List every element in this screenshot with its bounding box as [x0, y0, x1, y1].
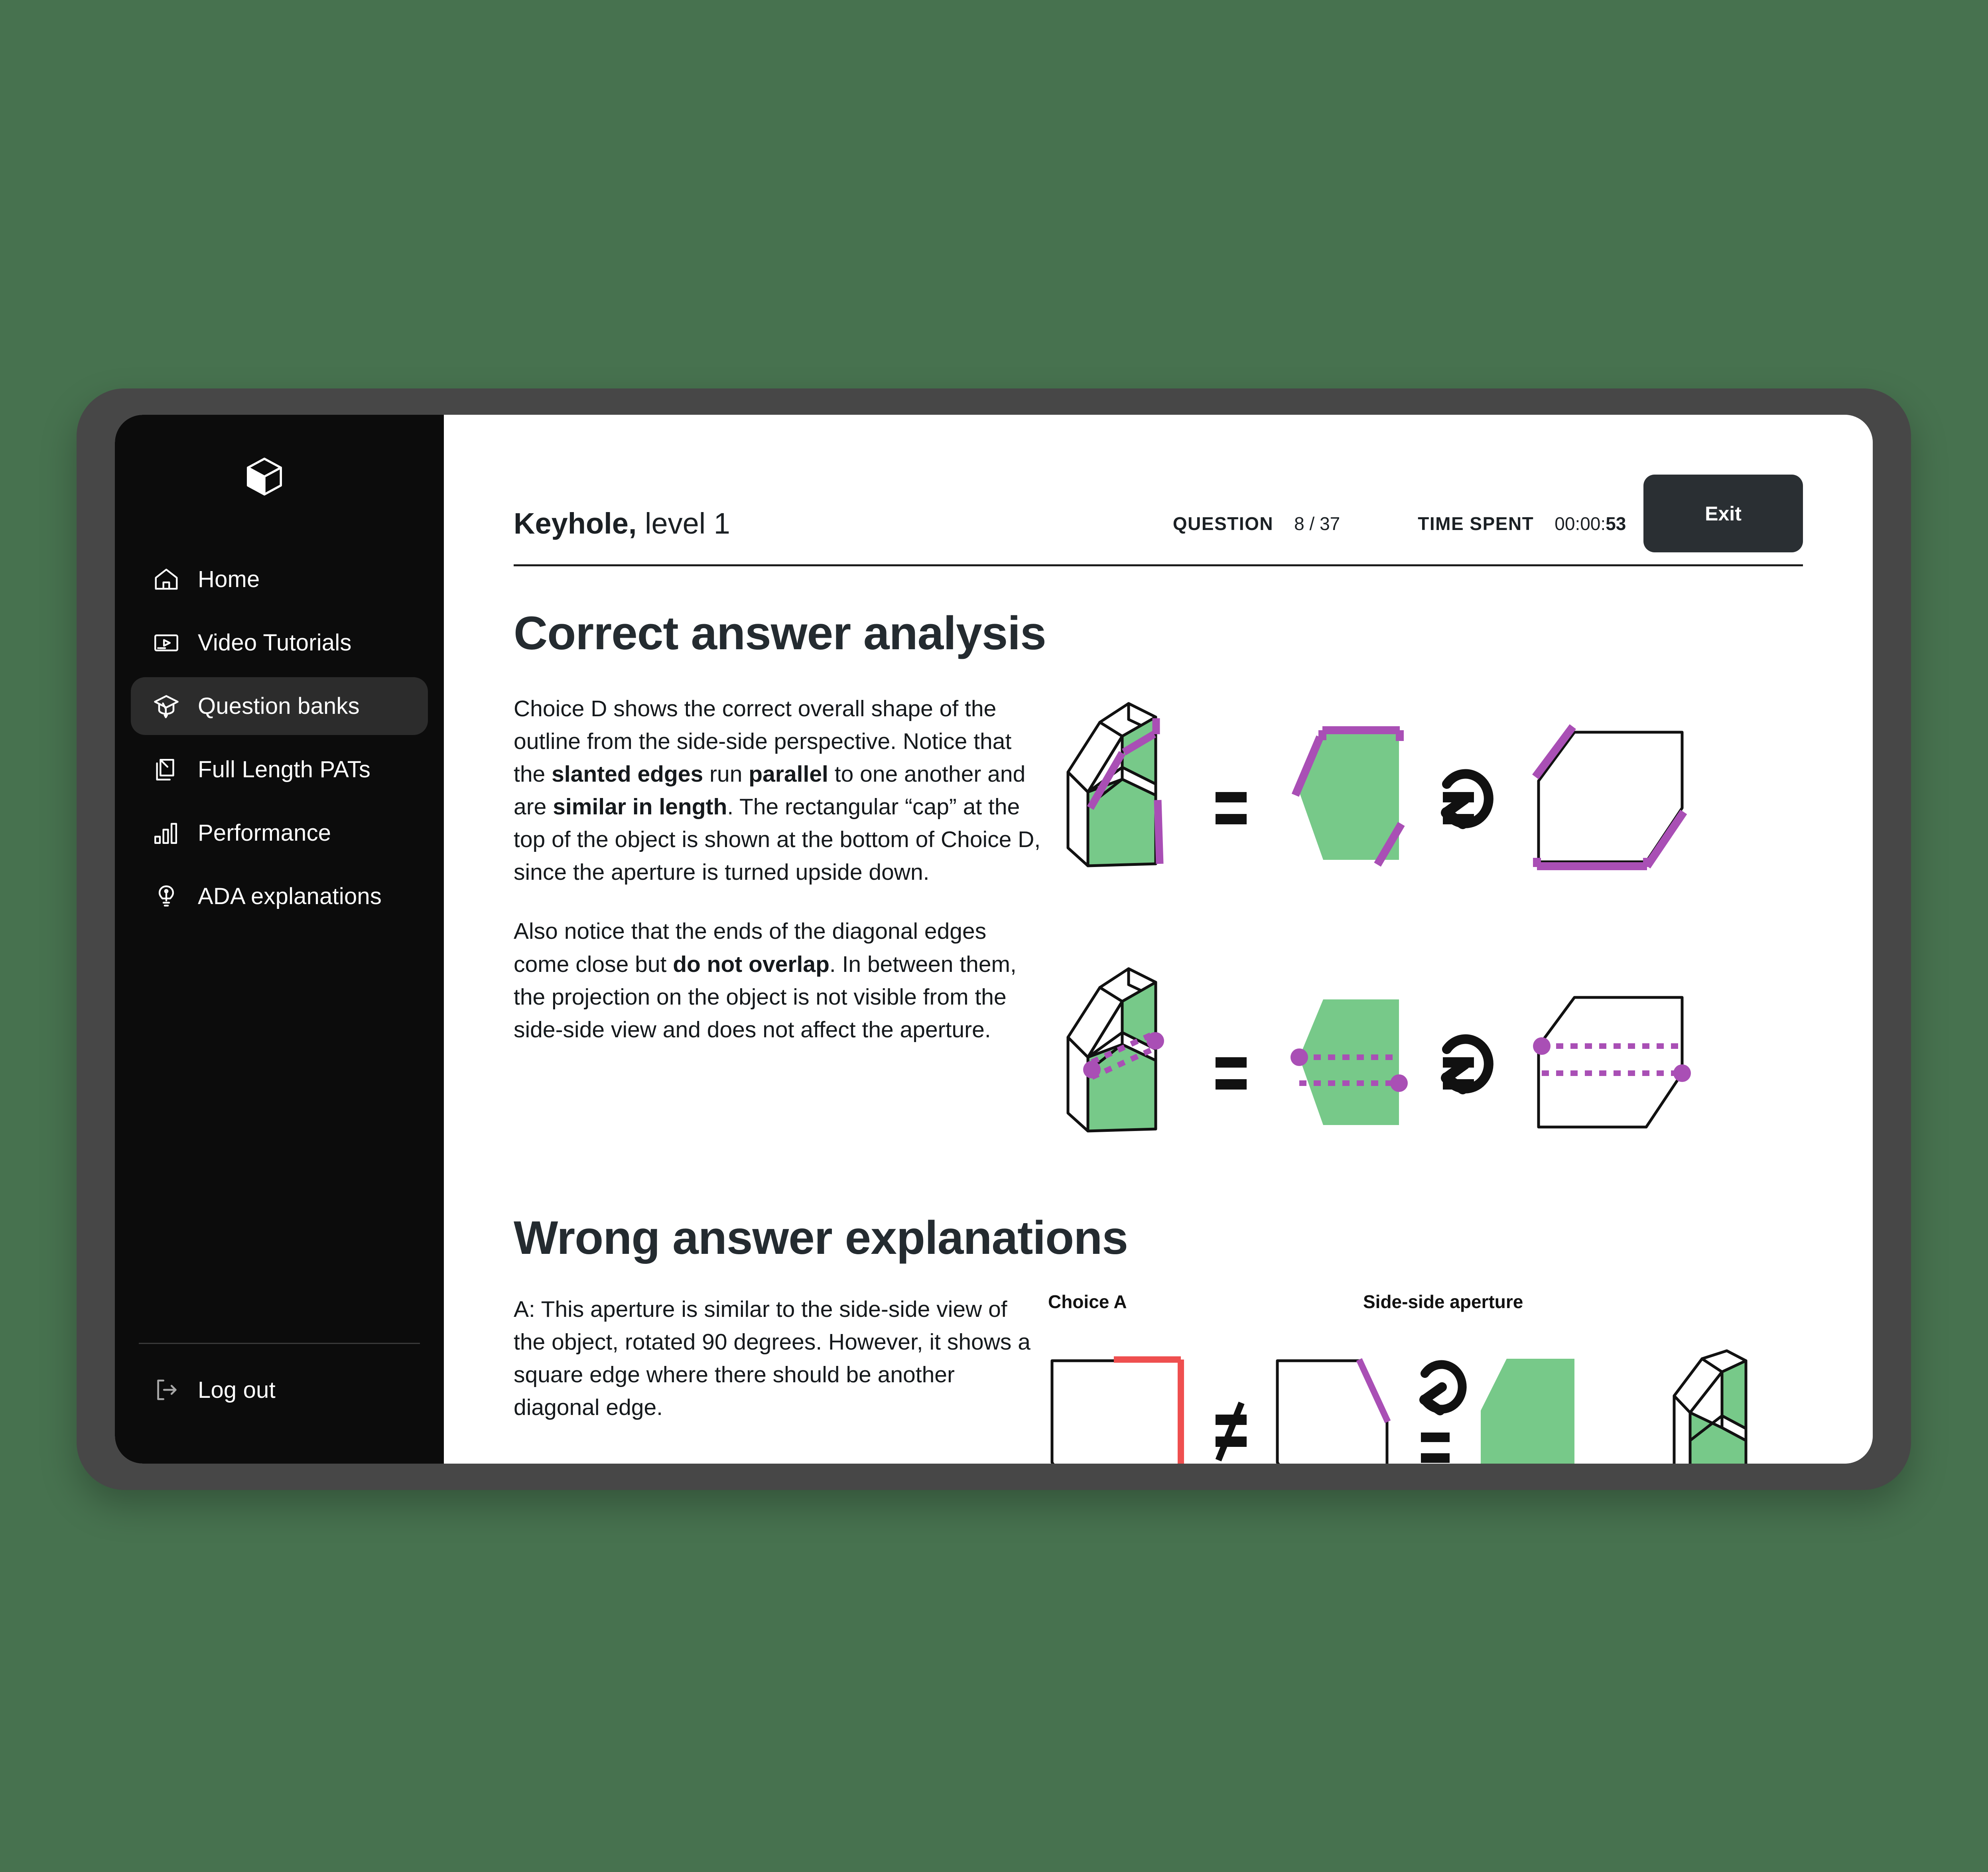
analysis-text-column-2: A: This aperture is similar to the side-… — [514, 1293, 1044, 1424]
sidebar-item-label: Question banks — [198, 693, 360, 719]
analysis-figure-column-1 — [1044, 692, 1822, 1145]
main-content: Keyhole, level 1 QUESTION 8 / 37 TIME SP… — [444, 415, 1873, 1464]
endpoint-dot — [1390, 1074, 1408, 1092]
p2-bold1: do not overlap — [673, 952, 829, 977]
endpoint-dot — [1673, 1064, 1691, 1082]
equals-sign — [1216, 1057, 1247, 1090]
paragraph-2: Also notice that the ends of the diagona… — [514, 915, 1044, 1046]
time-prefix: 00:00: — [1555, 513, 1606, 534]
time-spent-value: 00:00:53 — [1555, 513, 1626, 534]
not-equals-sign — [1216, 1402, 1247, 1462]
sidebar-item-question-banks[interactable]: Question banks — [131, 677, 428, 735]
lightbulb-icon — [151, 881, 182, 912]
sidebar-item-label: Performance — [198, 820, 331, 846]
p1-part2: run — [703, 761, 749, 787]
page-root: Home Video Tutorials — [0, 0, 1988, 1872]
sidebar-item-home[interactable]: Home — [131, 550, 428, 608]
page-title: Keyhole, level 1 — [514, 506, 730, 540]
figure-row-1 — [1044, 692, 1822, 880]
analysis-row-1: Choice D shows the correct overall shape… — [514, 692, 1803, 1145]
sidebar-nav: Home Video Tutorials — [115, 550, 444, 931]
page-title-bold: Keyhole, — [514, 507, 636, 540]
sidebar-item-performance[interactable]: Performance — [131, 804, 428, 862]
equals-sign — [1216, 792, 1247, 824]
choice-a-label: Choice A — [1048, 1291, 1127, 1312]
endpoint-dot — [1291, 1048, 1308, 1066]
sidebar-item-label: Video Tutorials — [198, 629, 352, 656]
time-spent-label: TIME SPENT — [1418, 513, 1534, 534]
page-title-light: level 1 — [636, 507, 730, 540]
analysis-row-2: A: This aperture is similar to the side-… — [514, 1293, 1803, 1464]
logout-label: Log out — [198, 1377, 276, 1403]
p1-bold1: slanted edges — [552, 761, 703, 787]
sidebar: Home Video Tutorials — [115, 415, 444, 1464]
endpoint-dot — [1147, 1032, 1164, 1050]
exit-button[interactable]: Exit — [1643, 475, 1803, 552]
sidebar-divider — [139, 1343, 420, 1344]
correct-answer-analysis-heading: Correct answer analysis — [514, 606, 1803, 660]
logout-button[interactable]: Log out — [131, 1364, 276, 1416]
sidebar-item-video-tutorials[interactable]: Video Tutorials — [131, 614, 428, 672]
figure-row-3 — [1044, 1349, 1822, 1464]
sidebar-item-full-length-pats[interactable]: Full Length PATs — [131, 741, 428, 798]
p1-bold3: similar in length — [553, 794, 727, 820]
question-header: Keyhole, level 1 QUESTION 8 / 37 TIME SP… — [514, 483, 1803, 566]
endpoint-dot — [1083, 1061, 1101, 1078]
time-seconds: 53 — [1606, 513, 1626, 534]
question-meta: QUESTION 8 / 37 TIME SPENT 00:00:53 — [1173, 513, 1626, 534]
question-counter-label: QUESTION — [1173, 513, 1273, 534]
analysis-figure-column-2: Choice A Side-side aperture — [1044, 1293, 1822, 1464]
documents-icon — [151, 754, 182, 785]
wrong-answer-explanations-heading: Wrong answer explanations — [514, 1211, 1803, 1265]
endpoint-dot — [1533, 1037, 1551, 1055]
question-counter-value: 8 / 37 — [1294, 513, 1340, 534]
sidebar-item-label: Home — [198, 566, 260, 593]
sidebar-item-ada-explanations[interactable]: ADA explanations — [131, 867, 428, 925]
side-side-aperture-label: Side-side aperture — [1363, 1291, 1523, 1312]
analysis-text-column-1: Choice D shows the correct overall shape… — [514, 692, 1044, 1046]
rotate-icon — [1424, 1365, 1462, 1411]
graduation-icon — [151, 691, 182, 722]
paragraph-3: A: This aperture is similar to the side-… — [514, 1293, 1044, 1424]
logout-icon — [151, 1374, 182, 1405]
video-icon — [151, 627, 182, 658]
p1-bold2: parallel — [749, 761, 828, 787]
sidebar-item-label: ADA explanations — [198, 883, 382, 910]
app-window: Home Video Tutorials — [115, 415, 1873, 1464]
paragraph-1: Choice D shows the correct overall shape… — [514, 692, 1044, 889]
bar-chart-icon — [151, 818, 182, 849]
figure-row-2 — [1044, 958, 1822, 1145]
sidebar-item-label: Full Length PATs — [198, 756, 370, 783]
equals-sign — [1421, 1433, 1450, 1463]
cube-icon[interactable] — [242, 455, 286, 499]
home-icon — [151, 564, 182, 595]
